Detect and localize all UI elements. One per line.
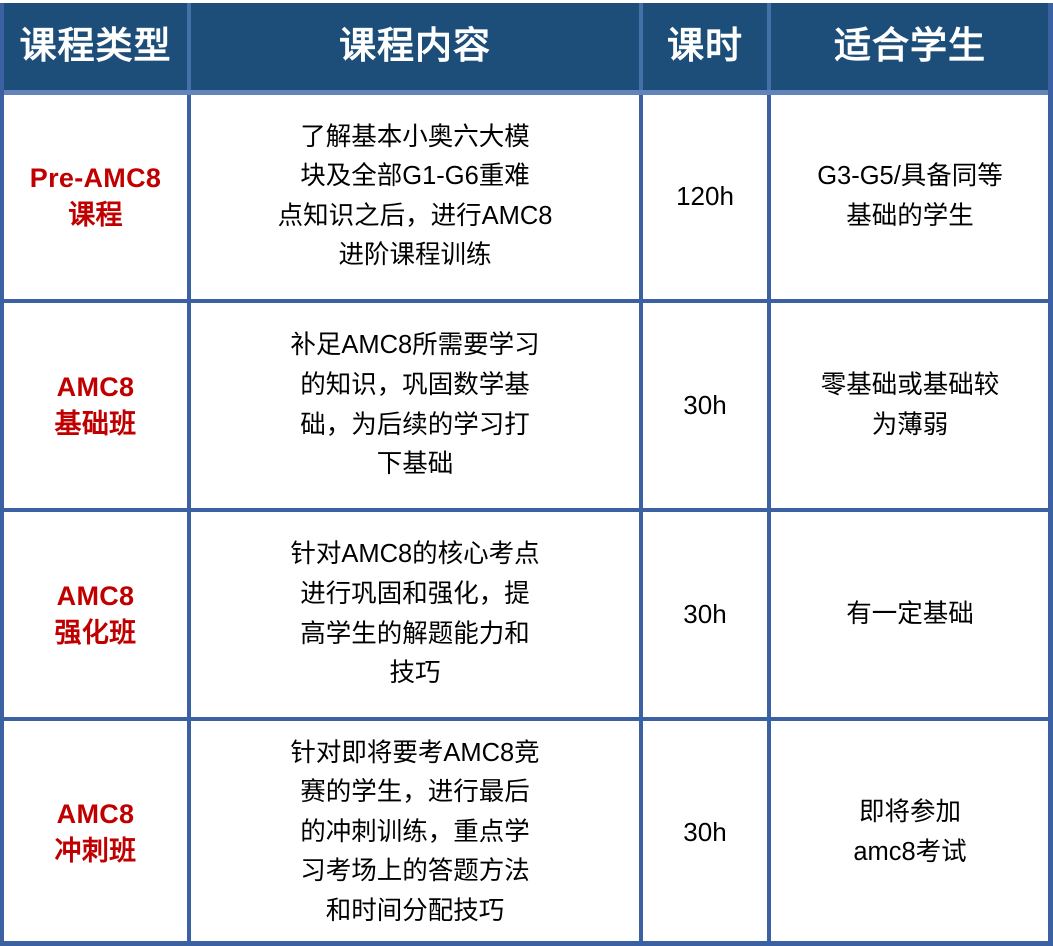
cell-course-type: AMC8 冲刺班 [4,719,189,944]
cell-course-type: AMC8 基础班 [4,301,189,510]
cell-course-content: 补足AMC8所需要学习 的知识，巩固数学基 础，为后续的学习打 下基础 [189,301,641,510]
table-border-left [0,3,4,943]
cell-suitable-students: 即将参加 amc8考试 [769,719,1049,944]
cell-course-content: 了解基本小奥六大模 块及全部G1-G6重难 点知识之后，进行AMC8 进阶课程训… [189,92,641,301]
header-row: 课程类型 课程内容 课时 适合学生 [4,3,1049,92]
column-header-course-hours: 课时 [641,3,769,92]
cell-course-hours: 30h [641,301,769,510]
course-table-container: 课程类型 课程内容 课时 适合学生 Pre-AMC8 课程 了解基本小奥六大模 … [0,0,1053,946]
column-header-suitable-students: 适合学生 [769,3,1049,92]
cell-course-type: AMC8 强化班 [4,510,189,719]
cell-suitable-students: G3-G5/具备同等 基础的学生 [769,92,1049,301]
table-row: Pre-AMC8 课程 了解基本小奥六大模 块及全部G1-G6重难 点知识之后，… [4,92,1049,301]
table-border-right [1048,3,1053,943]
cell-course-hours: 30h [641,510,769,719]
table-row: AMC8 冲刺班 针对即将要考AMC8竞 赛的学生，进行最后 的冲刺训练，重点学… [4,719,1049,944]
table-border-bottom [0,941,1053,946]
cell-course-hours: 30h [641,719,769,944]
course-comparison-table: 课程类型 课程内容 课时 适合学生 Pre-AMC8 课程 了解基本小奥六大模 … [4,3,1049,944]
column-header-course-content: 课程内容 [189,3,641,92]
table-row: AMC8 基础班 补足AMC8所需要学习 的知识，巩固数学基 础，为后续的学习打… [4,301,1049,510]
table-border-top [0,0,1053,3]
table-header: 课程类型 课程内容 课时 适合学生 [4,3,1049,92]
cell-course-content: 针对AMC8的核心考点 进行巩固和强化，提 高学生的解题能力和 技巧 [189,510,641,719]
cell-suitable-students: 零基础或基础较 为薄弱 [769,301,1049,510]
column-header-course-type: 课程类型 [4,3,189,92]
cell-course-hours: 120h [641,92,769,301]
cell-suitable-students: 有一定基础 [769,510,1049,719]
table-body: Pre-AMC8 课程 了解基本小奥六大模 块及全部G1-G6重难 点知识之后，… [4,92,1049,944]
table-row: AMC8 强化班 针对AMC8的核心考点 进行巩固和强化，提 高学生的解题能力和… [4,510,1049,719]
cell-course-type: Pre-AMC8 课程 [4,92,189,301]
cell-course-content: 针对即将要考AMC8竞 赛的学生，进行最后 的冲刺训练，重点学 习考场上的答题方… [189,719,641,944]
